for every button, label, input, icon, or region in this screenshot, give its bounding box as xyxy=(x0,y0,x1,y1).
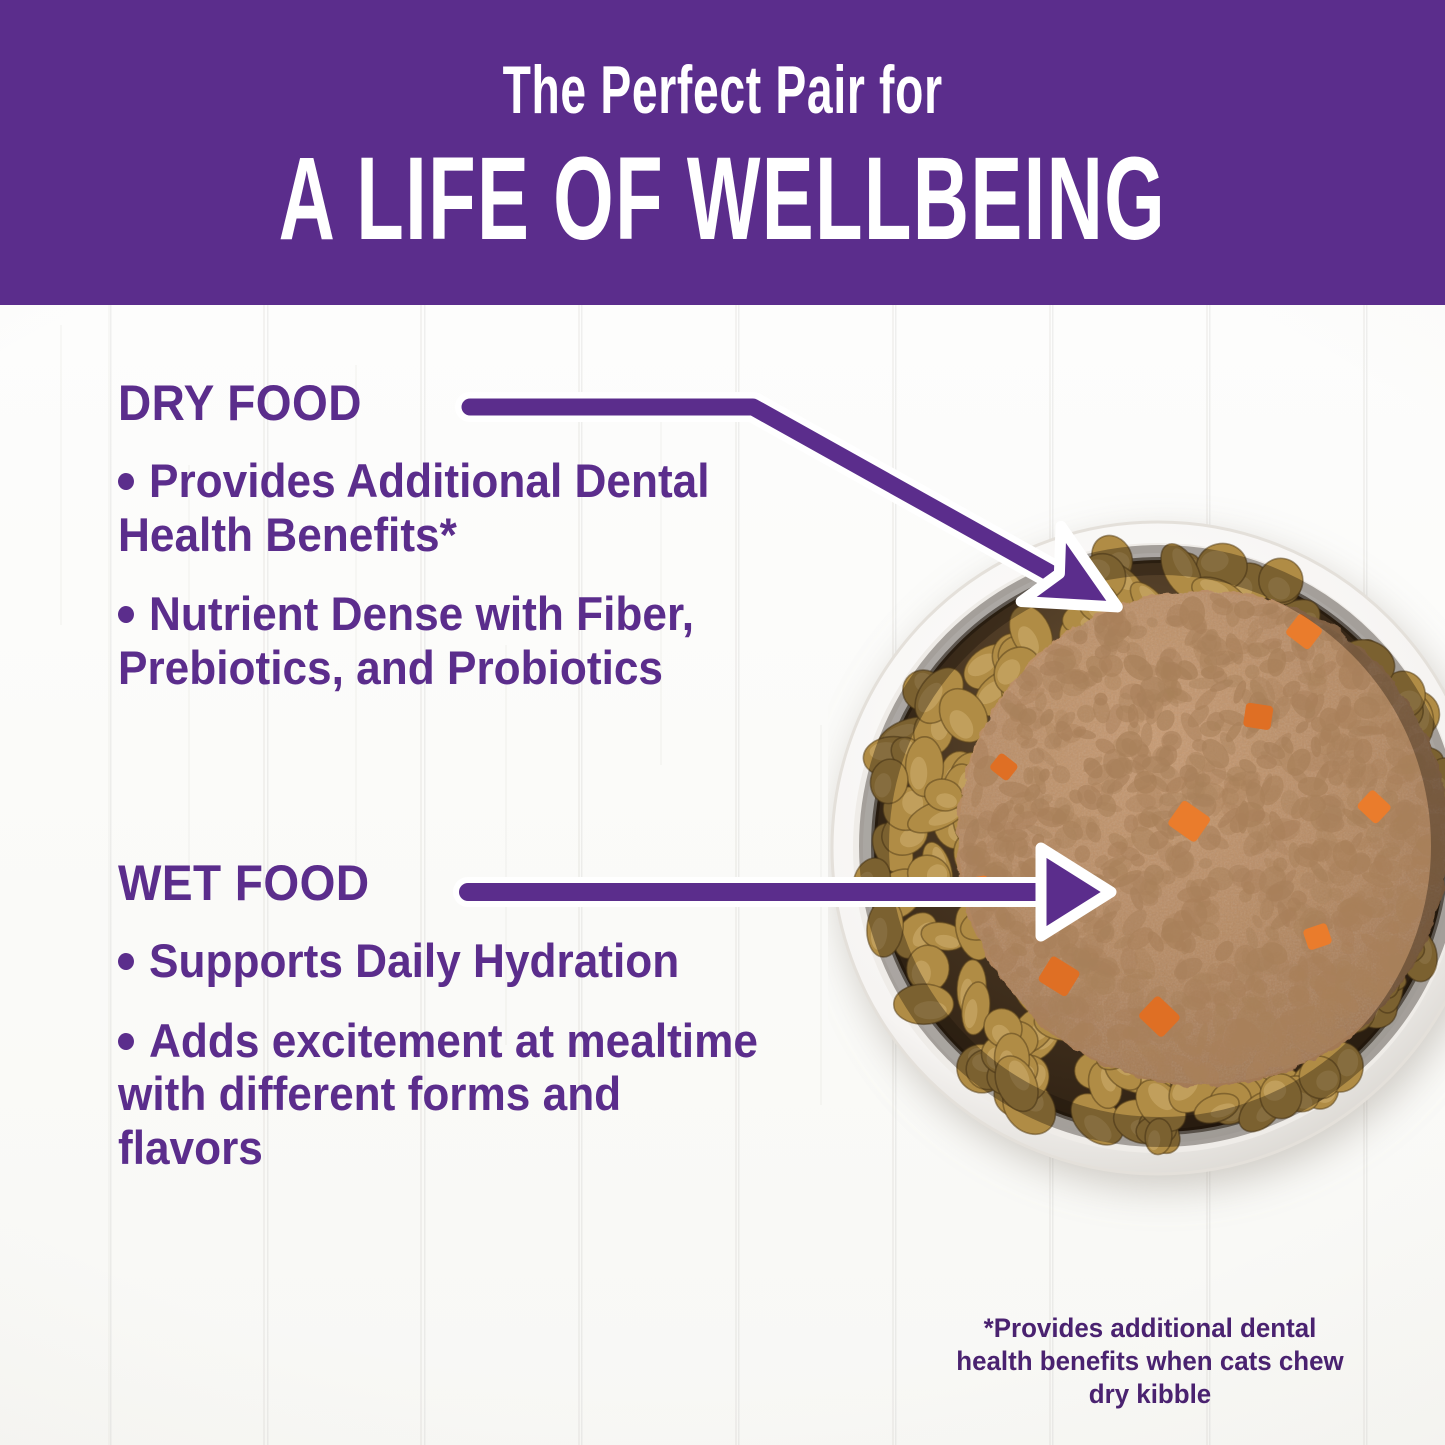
dry-food-heading: DRY FOOD xyxy=(118,378,799,428)
bullet-dot-icon xyxy=(118,606,134,623)
list-item: Adds excitement at mealtime with differe… xyxy=(118,1014,776,1175)
banner-subtitle: The Perfect Pair for xyxy=(502,56,942,124)
dry-food-section: DRY FOOD Provides Additional Dental Heal… xyxy=(118,378,858,720)
bullet-text: Supports Daily Hydration xyxy=(149,934,679,987)
bullet-dot-icon xyxy=(118,953,134,970)
list-item: Supports Daily Hydration xyxy=(118,934,776,988)
bullet-text: Provides Additional Dental Health Benefi… xyxy=(118,454,710,561)
wet-food-section: WET FOOD Supports Daily Hydration Adds e… xyxy=(118,858,858,1200)
wet-food-bullet-list: Supports Daily Hydration Adds excitement… xyxy=(118,934,858,1174)
footnote-text: *Provides additional dental health benef… xyxy=(944,1312,1357,1411)
list-item: Provides Additional Dental Health Benefi… xyxy=(118,454,776,561)
wet-food-heading: WET FOOD xyxy=(118,858,799,908)
header-banner: The Perfect Pair for A LIFE OF WELLBEING xyxy=(0,0,1445,305)
bullet-text: Adds excitement at mealtime with differe… xyxy=(118,1014,758,1174)
bullet-dot-icon xyxy=(118,1033,134,1050)
bullet-dot-icon xyxy=(118,473,134,490)
bullet-text: Nutrient Dense with Fiber, Prebiotics, a… xyxy=(118,587,694,694)
cat-food-bowl-photo xyxy=(828,418,1445,1268)
list-item: Nutrient Dense with Fiber, Prebiotics, a… xyxy=(118,587,776,694)
promo-graphic: The Perfect Pair for A LIFE OF WELLBEING… xyxy=(0,0,1445,1445)
banner-title: A LIFE OF WELLBEING xyxy=(279,140,1166,258)
dry-food-bullet-list: Provides Additional Dental Health Benefi… xyxy=(118,454,858,694)
